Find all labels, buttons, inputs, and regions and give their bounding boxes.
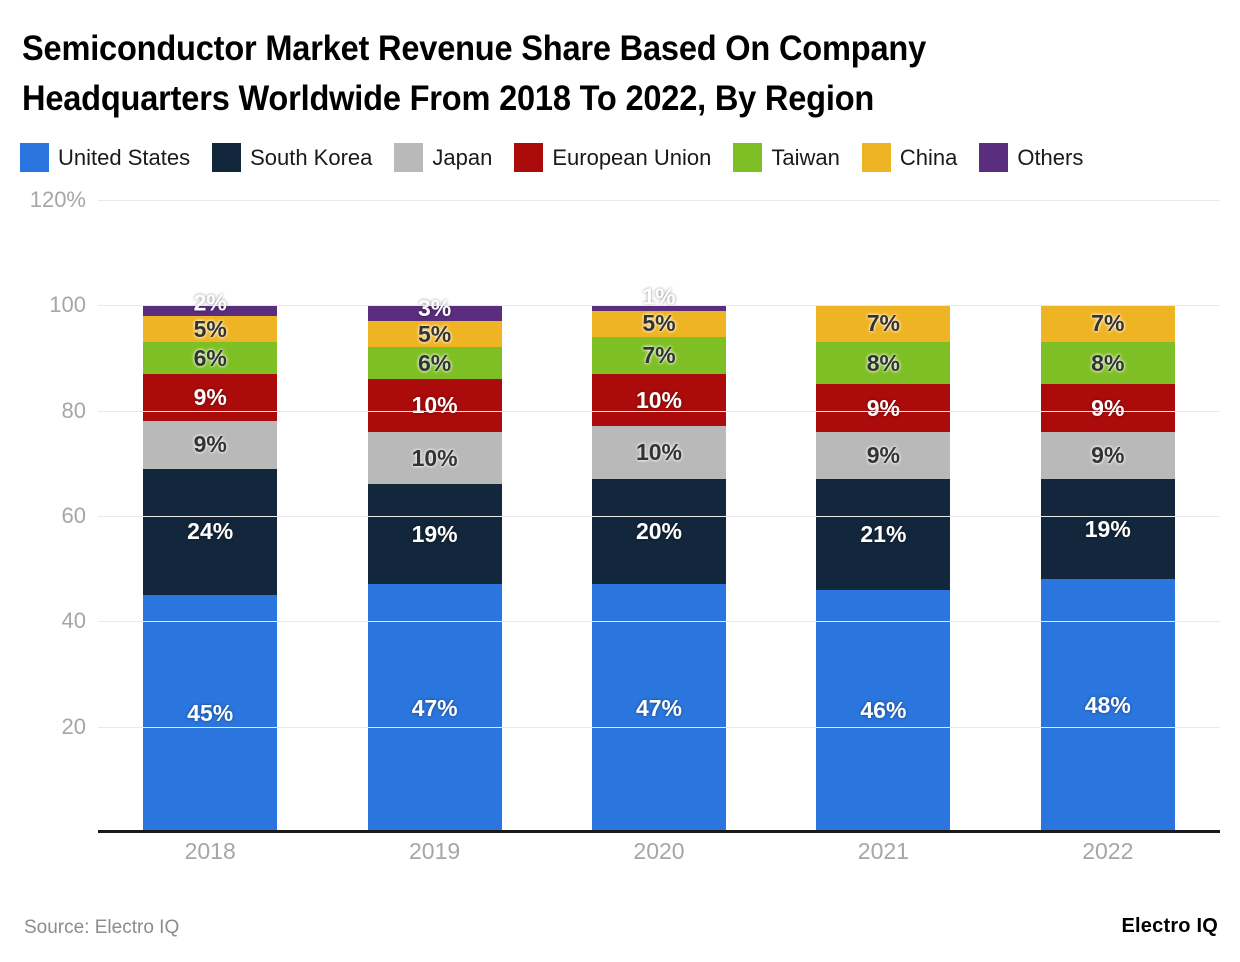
legend-label: Taiwan <box>771 145 839 171</box>
x-axis-label-2022: 2022 <box>1082 838 1133 865</box>
bar-segment-taiwan[interactable]: 6% <box>368 347 502 379</box>
bar-segment-value-label: 9% <box>194 433 227 456</box>
plot-area: 45%24%9%9%6%5%2%47%19%10%10%6%5%3%47%20%… <box>98 200 1220 832</box>
bar-segment-others[interactable]: 3% <box>368 305 502 321</box>
bar-segment-value-label: 5% <box>642 312 675 335</box>
bar-segment-taiwan[interactable]: 7% <box>592 337 726 374</box>
bar-segment-value-label: 47% <box>412 697 458 720</box>
x-axis-label-2021: 2021 <box>858 838 909 865</box>
bar-segment-united-states[interactable]: 45% <box>143 595 277 832</box>
bar-segment-china[interactable]: 7% <box>816 305 950 342</box>
legend-swatch-icon <box>20 143 49 172</box>
bar-segment-value-label: 20% <box>636 520 682 543</box>
bar-segment-value-label: 10% <box>636 441 682 464</box>
legend-label: United States <box>58 145 190 171</box>
legend-item-south-korea[interactable]: South Korea <box>212 143 372 172</box>
legend-swatch-icon <box>862 143 891 172</box>
chart-page: Semiconductor Market Revenue Share Based… <box>0 0 1240 962</box>
bar-segment-taiwan[interactable]: 8% <box>1041 342 1175 384</box>
bar-segment-south-korea[interactable]: 20% <box>592 479 726 584</box>
gridline <box>98 305 1220 306</box>
bar-segment-value-label: 7% <box>642 344 675 367</box>
bar-segment-value-label: 10% <box>636 389 682 412</box>
bar-segment-japan[interactable]: 9% <box>1041 432 1175 479</box>
bar-segment-china[interactable]: 5% <box>592 311 726 337</box>
bar-segment-south-korea[interactable]: 24% <box>143 469 277 595</box>
gridline <box>98 516 1220 517</box>
bar-segment-china[interactable]: 7% <box>1041 305 1175 342</box>
bar-segment-japan[interactable]: 10% <box>368 432 502 485</box>
bar-segment-taiwan[interactable]: 6% <box>143 342 277 374</box>
bar-segment-value-label: 48% <box>1085 694 1131 717</box>
bar-segment-european-union[interactable]: 10% <box>592 374 726 427</box>
bar-segment-value-label: 7% <box>1091 312 1124 335</box>
page-title: Semiconductor Market Revenue Share Based… <box>22 24 1119 124</box>
bar-segment-value-label: 21% <box>860 523 906 546</box>
y-axis-tick-label: 60 <box>0 503 86 529</box>
bar-segment-value-label: 9% <box>867 397 900 420</box>
source-note: Source: Electro IQ <box>24 917 179 939</box>
bar-segment-value-label: 19% <box>1085 518 1131 541</box>
bar-segment-value-label: 19% <box>412 523 458 546</box>
bar-segment-south-korea[interactable]: 21% <box>816 479 950 590</box>
y-axis-tick-label: 100 <box>0 292 86 318</box>
gridline <box>98 727 1220 728</box>
bar-segment-value-label: 2% <box>194 291 227 314</box>
bar-segment-value-label: 7% <box>867 312 900 335</box>
bar-segment-european-union[interactable]: 9% <box>143 374 277 421</box>
legend-swatch-icon <box>394 143 423 172</box>
legend-item-japan[interactable]: Japan <box>394 143 492 172</box>
bar-segment-taiwan[interactable]: 8% <box>816 342 950 384</box>
chart-legend: United StatesSouth KoreaJapanEuropean Un… <box>20 143 1105 172</box>
legend-swatch-icon <box>979 143 1008 172</box>
legend-item-china[interactable]: China <box>862 143 957 172</box>
legend-item-taiwan[interactable]: Taiwan <box>733 143 839 172</box>
bar-segment-japan[interactable]: 9% <box>143 421 277 468</box>
legend-swatch-icon <box>212 143 241 172</box>
y-axis-tick-label: 120% <box>0 187 86 213</box>
legend-label: European Union <box>552 145 711 171</box>
bar-segment-value-label: 3% <box>418 297 451 320</box>
bar-segment-value-label: 46% <box>860 699 906 722</box>
legend-label: China <box>900 145 957 171</box>
bar-segment-value-label: 5% <box>418 323 451 346</box>
bar-segment-south-korea[interactable]: 19% <box>1041 479 1175 579</box>
bar-segment-china[interactable]: 5% <box>143 316 277 342</box>
bar-segment-value-label: 10% <box>412 394 458 417</box>
bar-segment-value-label: 10% <box>412 447 458 470</box>
legend-item-european-union[interactable]: European Union <box>514 143 711 172</box>
bar-segment-china[interactable]: 5% <box>368 321 502 347</box>
legend-label: Japan <box>432 145 492 171</box>
bar-segment-european-union[interactable]: 9% <box>816 384 950 431</box>
bar-segment-japan[interactable]: 10% <box>592 426 726 479</box>
legend-swatch-icon <box>733 143 762 172</box>
x-axis-label-2019: 2019 <box>409 838 460 865</box>
gridline <box>98 411 1220 412</box>
y-axis-tick-label: 40 <box>0 608 86 634</box>
bar-segment-value-label: 5% <box>194 318 227 341</box>
bar-segment-united-states[interactable]: 46% <box>816 590 950 832</box>
bar-segment-european-union[interactable]: 10% <box>368 379 502 432</box>
legend-item-others[interactable]: Others <box>979 143 1083 172</box>
legend-label: South Korea <box>250 145 372 171</box>
bar-segment-value-label: 47% <box>636 697 682 720</box>
y-axis-tick-label: 20 <box>0 714 86 740</box>
bar-segment-japan[interactable]: 9% <box>816 432 950 479</box>
bar-segment-others[interactable]: 2% <box>143 305 277 316</box>
bar-segment-value-label: 9% <box>1091 397 1124 420</box>
legend-label: Others <box>1017 145 1083 171</box>
x-axis-label-2018: 2018 <box>185 838 236 865</box>
bar-segment-value-label: 9% <box>867 444 900 467</box>
y-axis-tick-label: 80 <box>0 398 86 424</box>
bar-segment-value-label: 9% <box>194 386 227 409</box>
brand-watermark: Electro IQ <box>1122 915 1218 938</box>
bar-segment-value-label: 9% <box>1091 444 1124 467</box>
bar-segment-value-label: 24% <box>187 520 233 543</box>
bar-segment-value-label: 45% <box>187 702 233 725</box>
bar-segment-value-label: 8% <box>1091 352 1124 375</box>
legend-item-united-states[interactable]: United States <box>20 143 190 172</box>
x-axis-line <box>98 830 1220 833</box>
gridline <box>98 621 1220 622</box>
bar-segment-south-korea[interactable]: 19% <box>368 484 502 584</box>
legend-swatch-icon <box>514 143 543 172</box>
bar-segment-value-label: 8% <box>867 352 900 375</box>
bar-segment-united-states[interactable]: 48% <box>1041 579 1175 832</box>
bar-segment-value-label: 6% <box>194 347 227 370</box>
bar-segment-european-union[interactable]: 9% <box>1041 384 1175 431</box>
x-axis-label-2020: 2020 <box>633 838 684 865</box>
gridline <box>98 200 1220 201</box>
bar-segment-value-label: 6% <box>418 352 451 375</box>
x-axis-labels: 20182019202020212022 <box>98 838 1220 878</box>
